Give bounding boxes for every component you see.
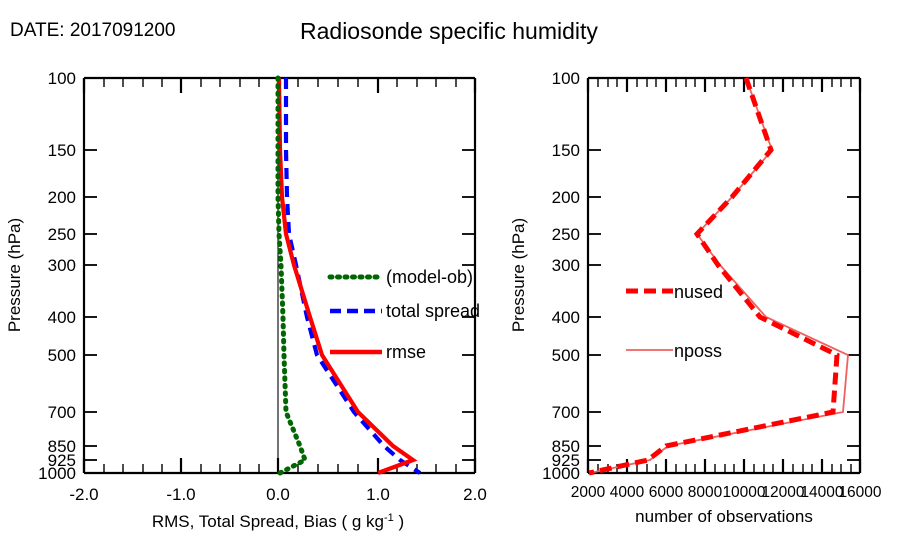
legend-label-model-ob: (model-ob): [386, 267, 473, 287]
series-nused: [589, 78, 837, 473]
right-xtick-14000: 14000: [800, 484, 843, 501]
right-xaxis-title: number of observations: [635, 507, 813, 526]
left-ytick-200: 200: [48, 188, 76, 207]
right-ytick-200: 200: [552, 188, 580, 207]
right-ytick-400: 400: [552, 308, 580, 327]
left-ytick-1000: 1000: [38, 464, 76, 483]
right-xtick-6000: 6000: [649, 484, 684, 501]
right-xtick-4000: 4000: [610, 484, 645, 501]
right-xtick-12000: 12000: [761, 484, 804, 501]
series-nposs: [590, 78, 848, 473]
left-xtick-0: 0.0: [266, 485, 290, 504]
right-ytick-300: 300: [552, 256, 580, 275]
figure-root: DATE: 2017091200 Radiosonde specific hum…: [0, 0, 900, 560]
left-xaxis-title-tail: ): [394, 512, 404, 531]
left-legend: (model-ob) total spread rmse: [330, 267, 480, 362]
right-ytick-100: 100: [552, 69, 580, 88]
left-ytick-700: 700: [48, 403, 76, 422]
right-xtick-16000: 16000: [838, 484, 881, 501]
right-yaxis-title: Pressure (hPa): [509, 218, 528, 332]
left-xtick-1: 1.0: [366, 485, 390, 504]
left-xtick--1: -1.0: [166, 485, 195, 504]
left-ytick-100: 100: [48, 69, 76, 88]
left-ytick-300: 300: [48, 256, 76, 275]
right-xtick-2000: 2000: [571, 484, 606, 501]
legend-label-total-spread: total spread: [386, 301, 480, 321]
left-ytick-250: 250: [48, 225, 76, 244]
right-panel: 100 150 200 250 300 400 500 700 850 925 …: [509, 69, 882, 526]
left-xtick-2: 2.0: [463, 485, 487, 504]
left-ytick-150: 150: [48, 141, 76, 160]
right-xtick-10000: 10000: [722, 484, 765, 501]
right-ytick-700: 700: [552, 403, 580, 422]
left-ytick-400: 400: [48, 308, 76, 327]
right-ytick-1000: 1000: [542, 464, 580, 483]
left-yaxis-title: Pressure (hPa): [5, 218, 24, 332]
left-xaxis-title-main: RMS, Total Spread, Bias ( g kg: [152, 512, 384, 531]
right-ytick-150: 150: [552, 141, 580, 160]
left-ytick-500: 500: [48, 346, 76, 365]
series-model-ob: [278, 78, 305, 473]
right-legend: nused nposs: [626, 282, 723, 361]
right-ytick-500: 500: [552, 346, 580, 365]
left-panel: 100 150 200 250 300 400 500 700 850 925 …: [5, 69, 487, 531]
legend-label-nused: nused: [674, 282, 723, 302]
left-xaxis-title-exponent: -1: [384, 512, 394, 524]
legend-label-nposs: nposs: [674, 341, 722, 361]
legend-label-rmse: rmse: [386, 342, 426, 362]
left-xaxis-title: RMS, Total Spread, Bias ( g kg-1 ): [152, 512, 404, 531]
left-xtick--2: -2.0: [69, 485, 98, 504]
right-xtick-8000: 8000: [688, 484, 723, 501]
right-ytick-250: 250: [552, 225, 580, 244]
plots-canvas: 100 150 200 250 300 400 500 700 850 925 …: [0, 0, 900, 560]
